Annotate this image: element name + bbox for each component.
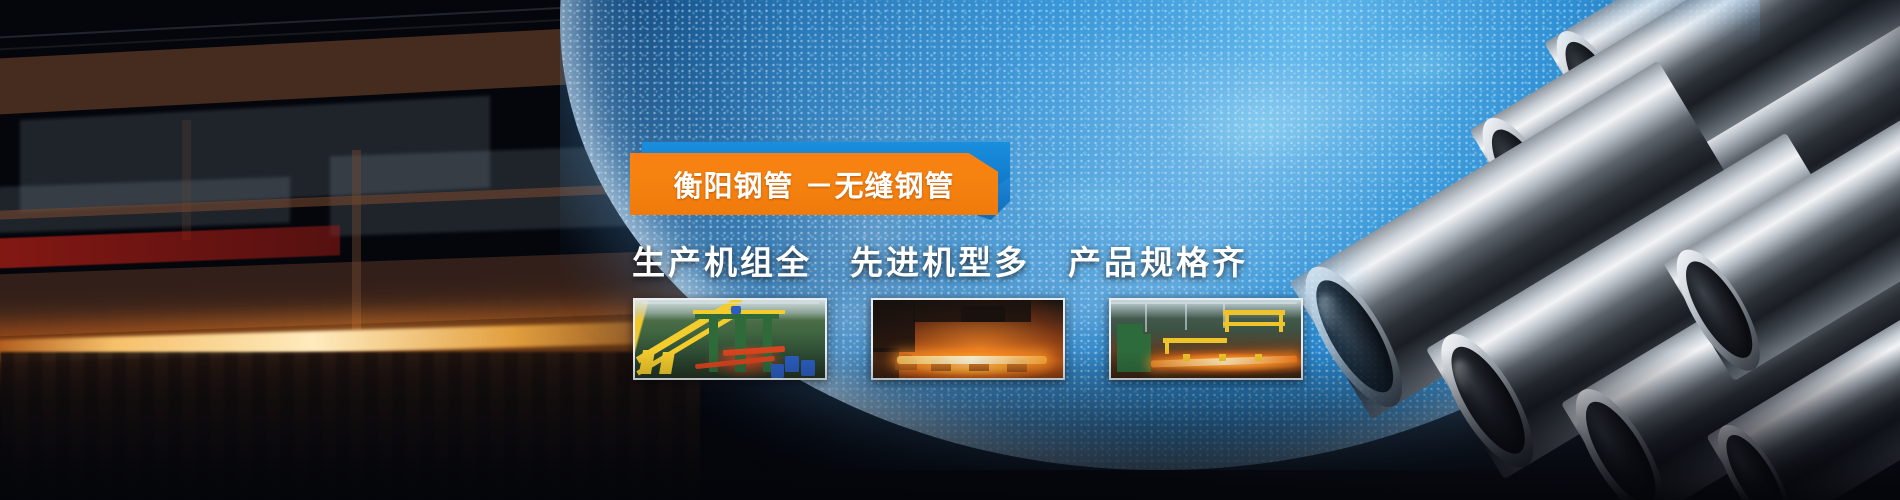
thumbnail-image	[1111, 300, 1301, 378]
thumbnail-hot-billet-furnace[interactable]	[871, 298, 1065, 380]
headline-phrase-1: 生产机组全	[632, 243, 812, 282]
thumbnail-rolling-mill-line[interactable]	[633, 298, 827, 380]
headline-phrase-3: 产品规格齐	[1068, 243, 1248, 282]
promo-banner: 衡阳钢管 －无缝钢管 生产机组全先进机型多产品规格齐	[0, 0, 1900, 500]
tag-label: 衡阳钢管 －无缝钢管	[673, 163, 954, 206]
thumbnail-image	[873, 300, 1063, 378]
thumbnail-image	[635, 300, 825, 378]
headline-phrase-2: 先进机型多	[850, 243, 1030, 282]
headline: 生产机组全先进机型多产品规格齐	[632, 236, 1248, 284]
thumbnail-hot-rolling-hall[interactable]	[1109, 298, 1303, 380]
title-tag: 衡阳钢管 －无缝钢管	[630, 142, 1050, 222]
thumbnail-row	[633, 298, 1303, 380]
tag-orange-plate: 衡阳钢管 －无缝钢管	[630, 153, 998, 215]
